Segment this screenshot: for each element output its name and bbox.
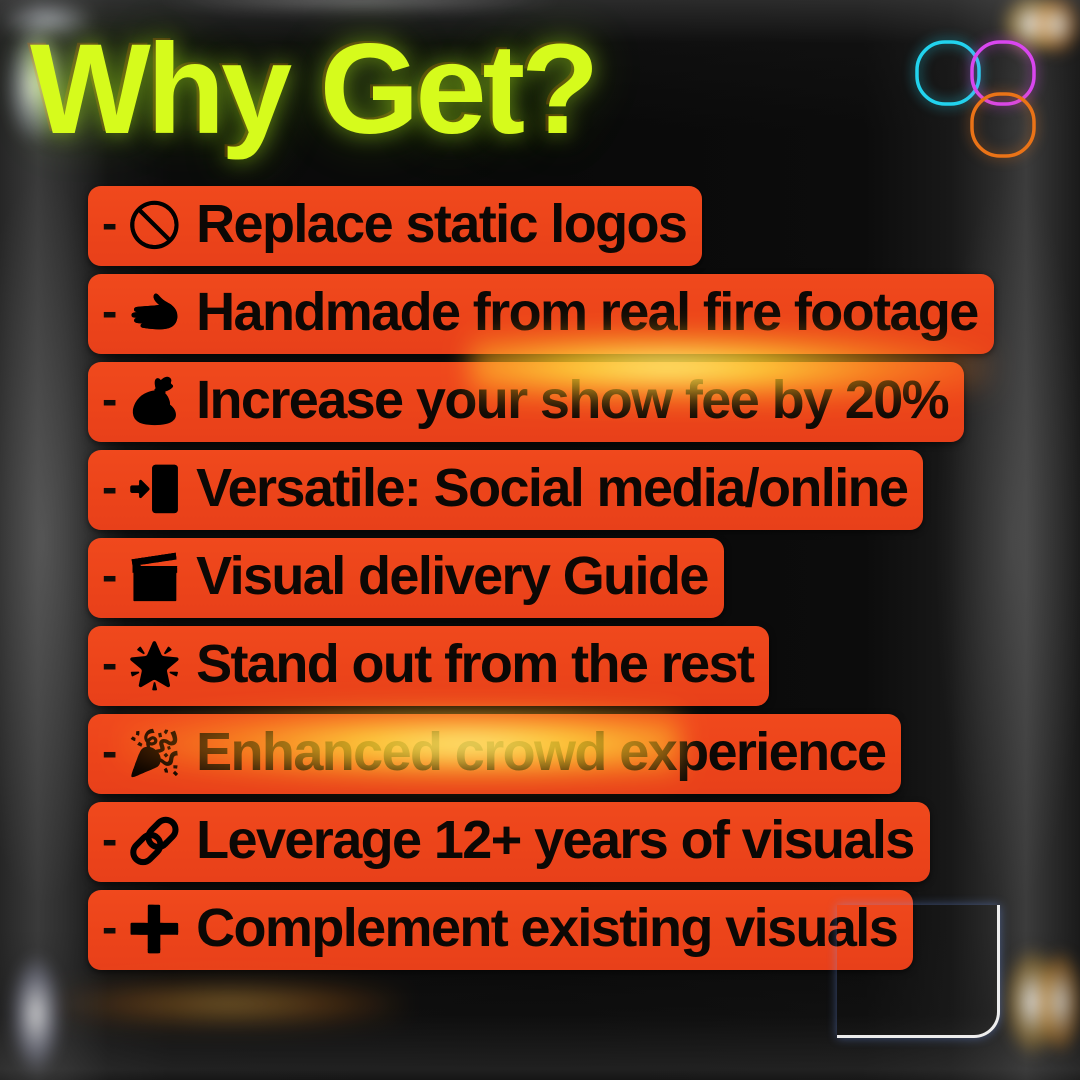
benefit-row-2[interactable]: - 🫲 Handmade from real fire footage (88, 274, 994, 354)
bullet-dash: - (102, 904, 117, 956)
plus-icon: ➕ (127, 908, 182, 952)
benefit-label: Replace static logos (196, 197, 686, 255)
link-icon: 🔗 (127, 820, 182, 864)
bullet-dash: - (102, 464, 117, 516)
benefit-row-7[interactable]: - 🎉 Enhanced crowd experience (88, 714, 901, 794)
benefit-label: Visual delivery Guide (196, 549, 708, 607)
benefit-label: Complement existing visuals (196, 901, 897, 959)
bullet-dash: - (102, 640, 117, 692)
bullet-dash: - (102, 552, 117, 604)
open-hands-icon: 🫲 (127, 292, 182, 336)
bullet-dash: - (102, 816, 117, 868)
benefit-row-5[interactable]: - 🎬 Visual delivery Guide (88, 538, 724, 618)
benefit-row-3[interactable]: - 💰 Increase your show fee by 20% (88, 362, 964, 442)
page-title: Why Get? (30, 26, 595, 154)
bullet-dash: - (102, 376, 117, 428)
benefit-label: Handmade from real fire footage (196, 285, 978, 343)
benefit-row-1[interactable]: - 🚫 Replace static logos (88, 186, 702, 266)
prohibited-icon: 🚫 (127, 204, 182, 248)
bullet-dash: - (102, 200, 117, 252)
benefit-label: Stand out from the rest (196, 637, 753, 695)
corner-bracket-decoration (837, 905, 1000, 1038)
party-popper-icon: 🎉 (127, 732, 182, 776)
slide-canvas: Why Get? - 🚫 Replace static logos - 🫲 Ha… (0, 0, 1080, 1080)
benefit-label: Leverage 12+ years of visuals (196, 813, 914, 871)
three-rings-logo[interactable] (914, 28, 1046, 160)
bullet-dash: - (102, 728, 117, 780)
ring-top-left-icon (917, 42, 979, 104)
benefit-label: Versatile: Social media/online (196, 461, 907, 519)
benefit-row-6[interactable]: - 🌟 Stand out from the rest (88, 626, 769, 706)
benefit-label: Increase your show fee by 20% (196, 373, 948, 431)
benefit-row-4[interactable]: - 📲 Versatile: Social media/online (88, 450, 923, 530)
mobile-arrow-icon: 📲 (127, 468, 182, 512)
glowing-star-icon: 🌟 (127, 644, 182, 688)
benefit-row-8[interactable]: - 🔗 Leverage 12+ years of visuals (88, 802, 930, 882)
benefits-list: - 🚫 Replace static logos - 🫲 Handmade fr… (88, 186, 994, 970)
money-bag-icon: 💰 (127, 380, 182, 424)
benefit-label: Enhanced crowd experience (196, 725, 885, 783)
benefit-row-9[interactable]: - ➕ Complement existing visuals (88, 890, 913, 970)
bullet-dash: - (102, 288, 117, 340)
clapper-board-icon: 🎬 (127, 556, 182, 600)
